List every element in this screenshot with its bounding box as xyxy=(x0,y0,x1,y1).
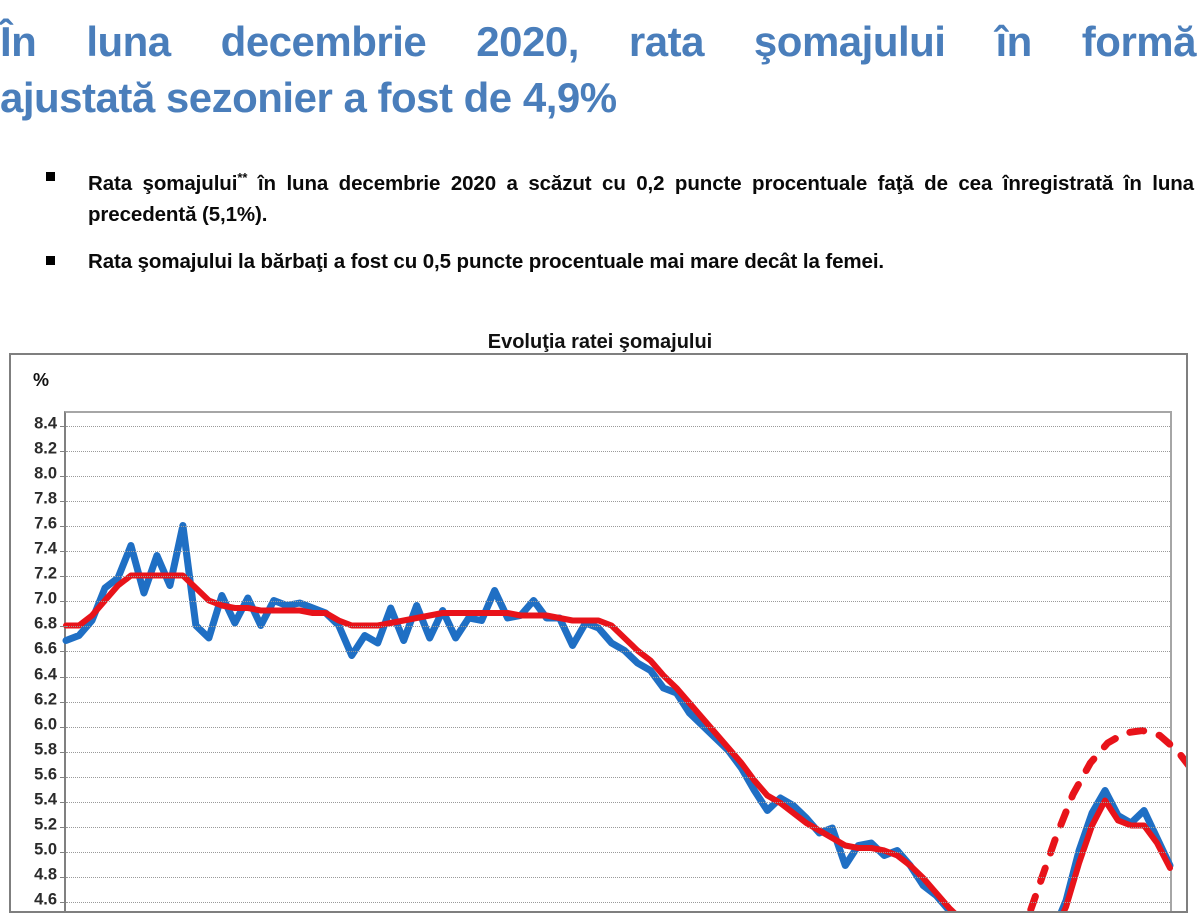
y-axis-tick xyxy=(60,752,66,753)
list-item: Rata şomajului la bărbaţi a fost cu 0,5 … xyxy=(46,246,1194,277)
y-axis-tick-label: 7.2 xyxy=(34,565,57,584)
list-item-text: Rata şomajului** în luna decembrie 2020 … xyxy=(88,162,1194,230)
list-item-text-main: Rata şomajului xyxy=(88,172,237,195)
gridline xyxy=(66,476,1170,477)
y-axis-tick-labels: 8.48.28.07.87.67.47.27.06.86.66.46.26.05… xyxy=(11,355,57,911)
gridline xyxy=(66,852,1170,853)
y-axis-tick-label: 5.4 xyxy=(34,791,57,810)
y-axis-tick xyxy=(60,576,66,577)
y-axis-tick xyxy=(60,451,66,452)
y-axis-tick-label: 6.0 xyxy=(34,715,57,734)
y-axis-tick-label: 4.8 xyxy=(34,866,57,885)
y-axis-tick xyxy=(60,852,66,853)
gridline xyxy=(66,702,1170,703)
y-axis-tick xyxy=(60,802,66,803)
y-axis-tick-label: 8.2 xyxy=(34,439,57,458)
y-axis-tick-label: 5.8 xyxy=(34,740,57,759)
y-axis-tick-label: 6.6 xyxy=(34,640,57,659)
plot-area xyxy=(64,411,1172,913)
y-axis-tick-label: 5.6 xyxy=(34,765,57,784)
square-bullet-icon xyxy=(46,256,55,265)
y-axis-tick-label: 7.0 xyxy=(34,590,57,609)
list-item-text: Rata şomajului la bărbaţi a fost cu 0,5 … xyxy=(88,246,1194,277)
list-item-text-main: Rata şomajului la bărbaţi a fost cu 0,5 … xyxy=(88,250,884,273)
list-item-text-rest: în luna decembrie 2020 a scăzut cu 0,2 p… xyxy=(88,172,1194,226)
gridline xyxy=(66,626,1170,627)
gridline xyxy=(66,677,1170,678)
page-title-line-2: ajustată sezonier a fost de 4,9% xyxy=(0,70,1196,126)
list-item: Rata şomajului** în luna decembrie 2020 … xyxy=(46,162,1194,230)
y-axis-tick-label: 7.8 xyxy=(34,489,57,508)
y-axis-tick xyxy=(60,677,66,678)
gridline xyxy=(66,501,1170,502)
y-axis-tick-label: 7.4 xyxy=(34,540,57,559)
y-axis-tick-label: 4.6 xyxy=(34,891,57,910)
gridline xyxy=(66,451,1170,452)
gridline xyxy=(66,777,1170,778)
y-axis-tick xyxy=(60,902,66,903)
gridline xyxy=(66,902,1170,903)
y-axis-tick xyxy=(60,426,66,427)
y-axis-tick-label: 6.2 xyxy=(34,690,57,709)
y-axis-tick xyxy=(60,702,66,703)
page-title-line-1: În luna decembrie 2020, rata şomajului î… xyxy=(0,14,1196,70)
y-axis-tick-label: 7.6 xyxy=(34,514,57,533)
y-axis-tick-label: 8.0 xyxy=(34,464,57,483)
gridline xyxy=(66,426,1170,427)
y-axis-tick xyxy=(60,476,66,477)
y-axis-tick xyxy=(60,727,66,728)
y-axis-tick-label: 6.8 xyxy=(34,615,57,634)
gridline xyxy=(66,752,1170,753)
y-axis-tick-label: 6.4 xyxy=(34,665,57,684)
gridline xyxy=(66,827,1170,828)
y-axis-tick xyxy=(60,501,66,502)
series-line-projection xyxy=(1021,731,1188,913)
y-axis-tick xyxy=(60,651,66,652)
y-axis-tick-label: 5.2 xyxy=(34,816,57,835)
y-axis-tick xyxy=(60,626,66,627)
y-axis-tick xyxy=(60,601,66,602)
gridline xyxy=(66,802,1170,803)
y-axis-tick-label: 8.4 xyxy=(34,414,57,433)
y-axis-tick xyxy=(60,777,66,778)
bullet-list: Rata şomajului** în luna decembrie 2020 … xyxy=(46,162,1194,293)
y-axis-tick-label: 5.0 xyxy=(34,841,57,860)
gridline xyxy=(66,551,1170,552)
chart-title: Evoluţia ratei şomajului xyxy=(0,331,1200,354)
gridline xyxy=(66,877,1170,878)
y-axis-tick xyxy=(60,551,66,552)
square-bullet-icon xyxy=(46,172,55,181)
series-line-raw xyxy=(66,526,1170,913)
chart-series-layer xyxy=(66,413,1170,913)
y-axis-tick xyxy=(60,827,66,828)
gridline xyxy=(66,601,1170,602)
chart-container: % 8.48.28.07.87.67.47.27.06.86.66.46.26.… xyxy=(9,353,1188,913)
gridline xyxy=(66,651,1170,652)
gridline xyxy=(66,576,1170,577)
page-title: În luna decembrie 2020, rata şomajului î… xyxy=(0,14,1196,126)
gridline xyxy=(66,526,1170,527)
footnote-marker: ** xyxy=(237,170,247,185)
y-axis-tick xyxy=(60,877,66,878)
y-axis-tick xyxy=(60,526,66,527)
gridline xyxy=(66,727,1170,728)
